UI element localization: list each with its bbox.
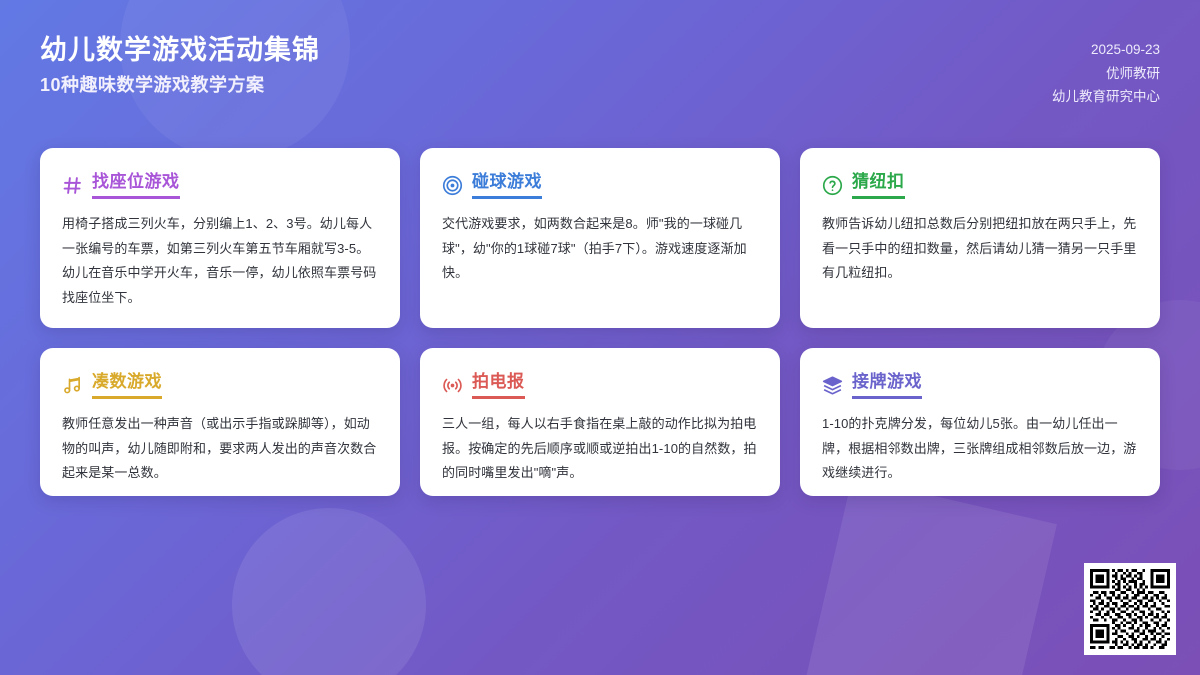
page-title: 幼儿数学游戏活动集锦 xyxy=(40,34,320,68)
card-title: 碰球游戏 xyxy=(472,172,542,199)
card-header: 找座位游戏 xyxy=(62,172,378,199)
card-title: 接牌游戏 xyxy=(852,372,922,399)
poster-canvas: 幼儿数学游戏活动集锦 10种趣味数学游戏教学方案 2025-09-23 优师教研… xyxy=(0,0,1200,675)
game-card[interactable]: 找座位游戏 用椅子搭成三列火车，分别编上1、2、3号。幼儿每人一张编号的车票，如… xyxy=(40,148,400,328)
card-header: 碰球游戏 xyxy=(442,172,758,199)
card-header: 凑数游戏 xyxy=(62,372,378,399)
card-header: 接牌游戏 xyxy=(822,372,1138,399)
qr-code-image xyxy=(1090,569,1170,649)
layers-icon xyxy=(822,375,843,396)
game-card[interactable]: 接牌游戏 1-10的扑克牌分发，每位幼儿5张。由一幼儿任出一牌，根据相邻数出牌，… xyxy=(800,348,1160,496)
card-description: 教师告诉幼儿纽扣总数后分别把纽扣放在两只手上，先看一只手中的纽扣数量，然后请幼儿… xyxy=(822,212,1138,287)
game-card-grid: 找座位游戏 用椅子搭成三列火车，分别编上1、2、3号。幼儿每人一张编号的车票，如… xyxy=(40,148,1160,496)
game-card[interactable]: 拍电报 三人一组，每人以右手食指在桌上敲的动作比拟为拍电报。按确定的先后顺序或顺… xyxy=(420,348,780,496)
card-description: 1-10的扑克牌分发，每位幼儿5张。由一幼儿任出一牌，根据相邻数出牌，三张牌组成… xyxy=(822,412,1138,487)
poster-header: 幼儿数学游戏活动集锦 10种趣味数学游戏教学方案 2025-09-23 优师教研… xyxy=(0,0,1200,109)
bullseye-icon xyxy=(442,175,463,196)
qr-code[interactable] xyxy=(1084,563,1176,655)
header-left: 幼儿数学游戏活动集锦 10种趣味数学游戏教学方案 xyxy=(40,34,320,97)
page-subtitle: 10种趣味数学游戏教学方案 xyxy=(40,74,320,97)
card-title: 找座位游戏 xyxy=(92,172,180,199)
decorative-circle-bottom-left xyxy=(232,508,426,675)
hash-icon xyxy=(62,175,83,196)
meta-org: 优师教研 xyxy=(1106,62,1160,86)
meta-department: 幼儿教育研究中心 xyxy=(1052,85,1160,109)
question-circle-icon xyxy=(822,175,843,196)
card-description: 用椅子搭成三列火车，分别编上1、2、3号。幼儿每人一张编号的车票，如第三列火车第… xyxy=(62,212,378,312)
card-description: 三人一组，每人以右手食指在桌上敲的动作比拟为拍电报。按确定的先后顺序或顺或逆拍出… xyxy=(442,412,758,487)
card-title: 猜纽扣 xyxy=(852,172,905,199)
card-title: 拍电报 xyxy=(472,372,525,399)
card-header: 拍电报 xyxy=(442,372,758,399)
game-card[interactable]: 猜纽扣 教师告诉幼儿纽扣总数后分别把纽扣放在两只手上，先看一只手中的纽扣数量，然… xyxy=(800,148,1160,328)
music-note-icon xyxy=(62,375,83,396)
game-card[interactable]: 碰球游戏 交代游戏要求，如两数合起来是8。师"我的一球碰几球"，幼"你的1球碰7… xyxy=(420,148,780,328)
card-header: 猜纽扣 xyxy=(822,172,1138,199)
header-meta: 2025-09-23 优师教研 幼儿教育研究中心 xyxy=(1052,34,1160,109)
card-description: 教师任意发出一种声音（或出示手指或跺脚等），如动物的叫声，幼儿随即附和，要求两人… xyxy=(62,412,378,487)
meta-date: 2025-09-23 xyxy=(1091,38,1160,62)
decorative-rotated-square xyxy=(805,477,1057,675)
card-title: 凑数游戏 xyxy=(92,372,162,399)
game-card[interactable]: 凑数游戏 教师任意发出一种声音（或出示手指或跺脚等），如动物的叫声，幼儿随即附和… xyxy=(40,348,400,496)
broadcast-icon xyxy=(442,375,463,396)
card-description: 交代游戏要求，如两数合起来是8。师"我的一球碰几球"，幼"你的1球碰7球"（拍手… xyxy=(442,212,758,287)
